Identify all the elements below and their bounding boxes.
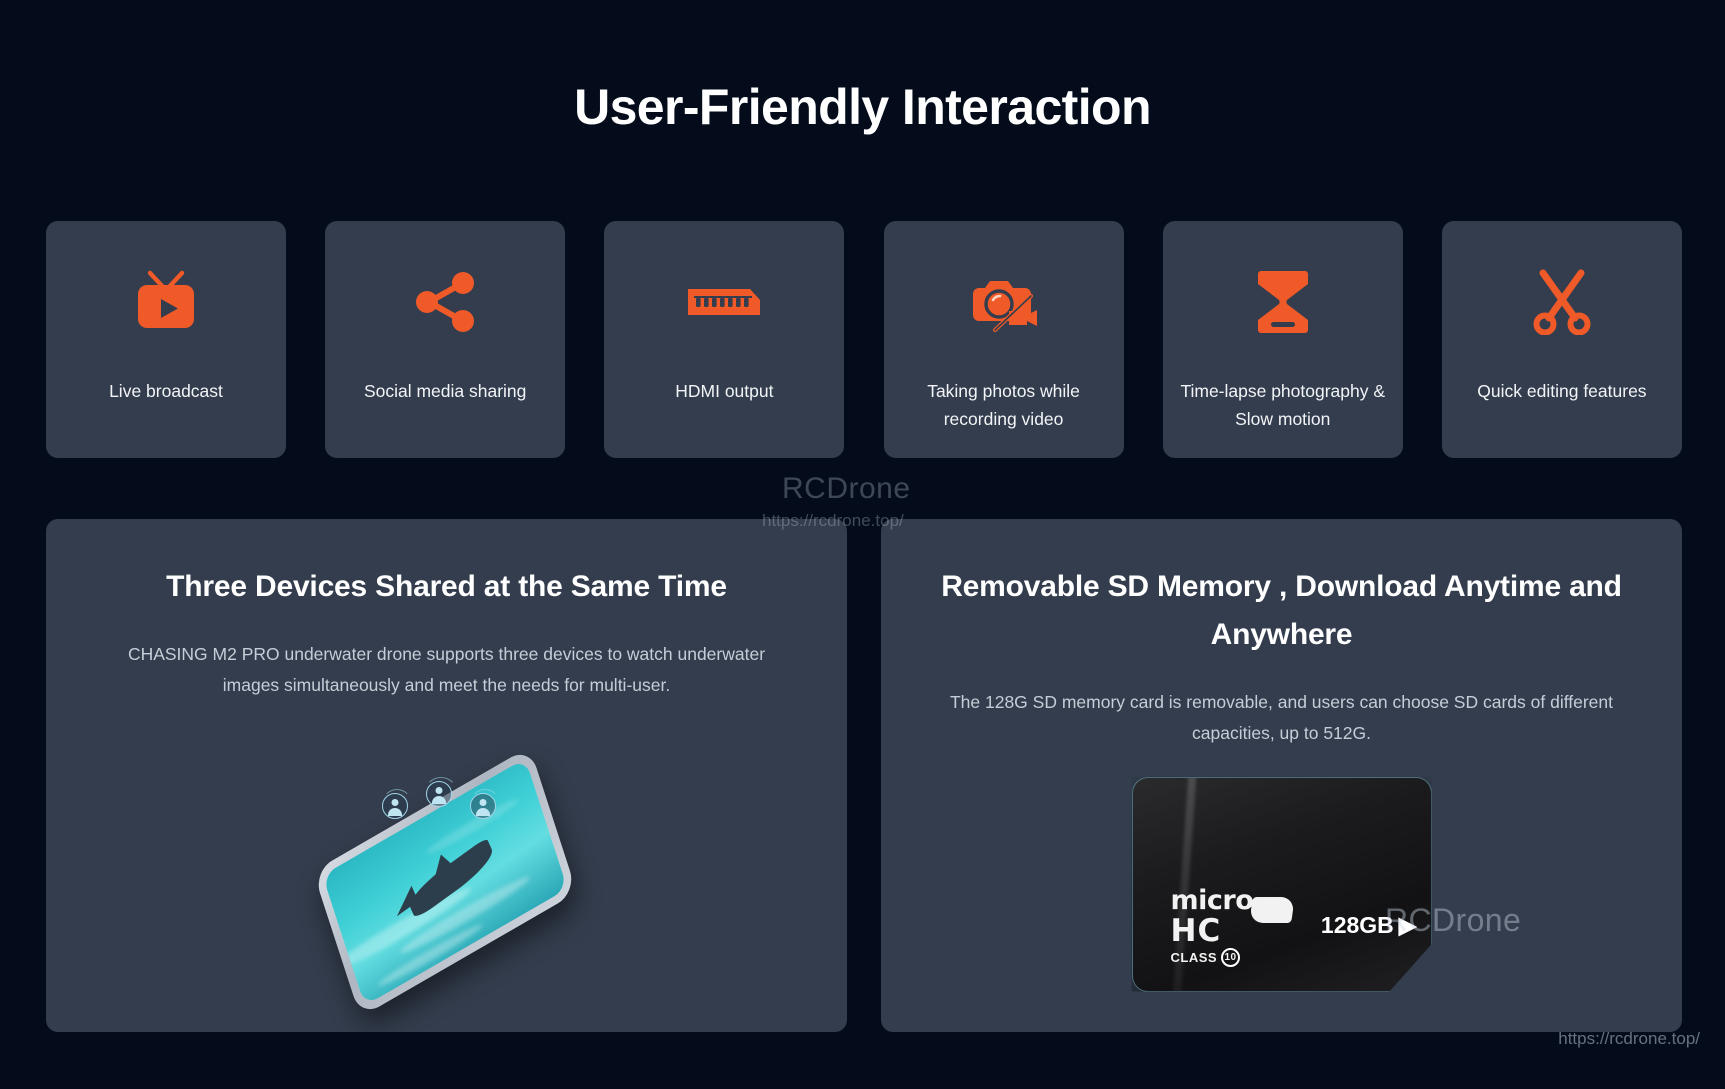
watermark-url-bottom: https://rcdrone.top/ bbox=[1558, 1029, 1700, 1049]
scissors-icon bbox=[1517, 265, 1607, 339]
card-branding: micro HC CLASS 10 bbox=[1171, 888, 1254, 967]
sd-micro-label: micro bbox=[1171, 888, 1254, 914]
camera-video-icon bbox=[959, 265, 1049, 339]
sd-capacity: 128GB ▶ bbox=[1321, 912, 1417, 939]
panel-title: Three Devices Shared at the Same Time bbox=[80, 563, 813, 611]
feature-card-social-media-sharing[interactable]: Social media sharing bbox=[325, 221, 565, 458]
sd-class-row: CLASS 10 bbox=[1171, 948, 1254, 967]
feature-card-timelapse-slowmotion[interactable]: Time-lapse photography & Slow motion bbox=[1163, 221, 1403, 458]
sd-capacity-value: 128GB bbox=[1321, 912, 1394, 939]
sd-class-value: 10 bbox=[1221, 948, 1240, 967]
panel-body: The 128G SD memory card is removable, an… bbox=[915, 687, 1648, 749]
sd-logo-mark bbox=[1249, 897, 1295, 923]
microsd-card-illustration: micro HC CLASS 10 128GB ▶ bbox=[881, 752, 1682, 1032]
feature-card-quick-editing[interactable]: Quick editing features bbox=[1442, 221, 1682, 458]
panel-body: CHASING M2 PRO underwater drone supports… bbox=[80, 639, 813, 701]
feature-card-photos-while-recording[interactable]: Taking photos while recording video bbox=[884, 221, 1124, 458]
page-title: User-Friendly Interaction bbox=[0, 78, 1725, 136]
phone-shark-illustration bbox=[46, 752, 847, 1032]
panel-removable-sd-memory: Removable SD Memory , Download Anytime a… bbox=[881, 519, 1682, 1032]
product-feature-page: User-Friendly Interaction Live broadcast bbox=[0, 0, 1725, 1089]
panel-title: Removable SD Memory , Download Anytime a… bbox=[915, 563, 1648, 659]
feature-label: Live broadcast bbox=[109, 377, 223, 405]
avatar bbox=[470, 793, 496, 819]
feature-label: Taking photos while recording video bbox=[898, 377, 1110, 433]
sd-hc-label: HC bbox=[1171, 914, 1254, 948]
hourglass-icon bbox=[1238, 265, 1328, 339]
info-panel-row: Three Devices Shared at the Same Time CH… bbox=[46, 519, 1682, 1032]
feature-label: Time-lapse photography & Slow motion bbox=[1177, 377, 1389, 433]
avatar bbox=[382, 793, 408, 819]
microsd-card: micro HC CLASS 10 128GB ▶ bbox=[1132, 777, 1432, 992]
hdmi-port-icon bbox=[679, 265, 769, 339]
feature-card-live-broadcast[interactable]: Live broadcast bbox=[46, 221, 286, 458]
share-nodes-icon bbox=[400, 265, 490, 339]
panel-three-devices: Three Devices Shared at the Same Time CH… bbox=[46, 519, 847, 1032]
shared-user-avatars bbox=[378, 773, 508, 825]
avatar bbox=[426, 781, 452, 807]
feature-label: Social media sharing bbox=[364, 377, 526, 405]
feature-label: HDMI output bbox=[675, 377, 773, 405]
watermark-brand-top: RCDrone bbox=[782, 472, 911, 506]
sd-class-label: CLASS bbox=[1171, 950, 1218, 965]
feature-label: Quick editing features bbox=[1477, 377, 1646, 405]
feature-card-row: Live broadcast Social media sharing bbox=[46, 221, 1682, 458]
feature-card-hdmi-output[interactable]: HDMI output bbox=[604, 221, 844, 458]
play-triangle-icon: ▶ bbox=[1399, 912, 1417, 939]
tv-live-icon bbox=[121, 265, 211, 339]
